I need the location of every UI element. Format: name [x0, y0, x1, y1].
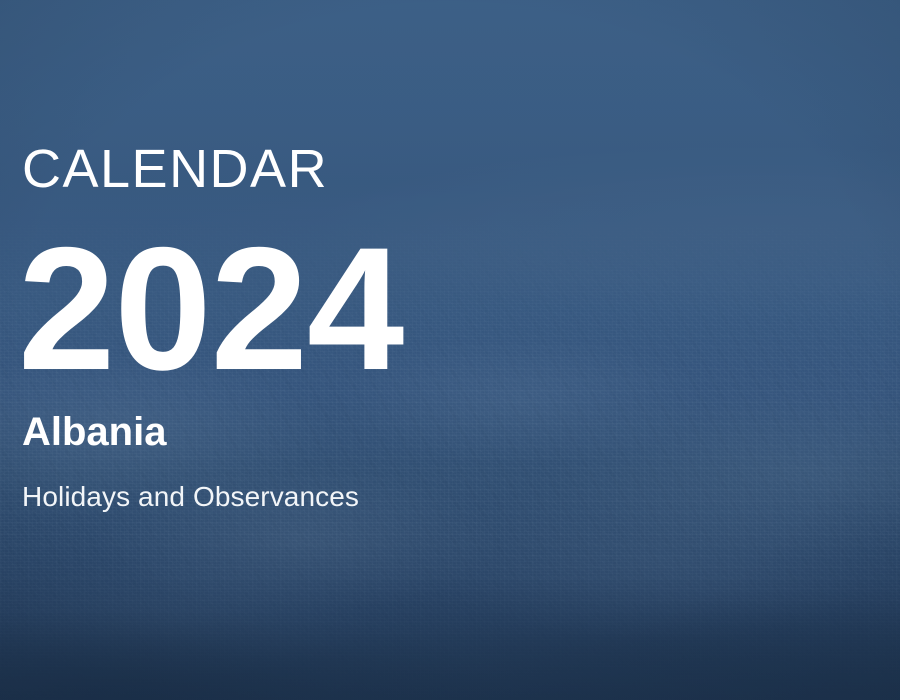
- calendar-cover: CALENDAR 2024 Albania Holidays and Obser…: [0, 0, 900, 700]
- calendar-eyebrow-label: CALENDAR: [22, 142, 328, 196]
- cover-text-block: CALENDAR 2024 Albania Holidays and Obser…: [22, 0, 582, 700]
- calendar-subtitle: Holidays and Observances: [22, 483, 359, 511]
- calendar-country-name: Albania: [22, 412, 166, 452]
- calendar-year: 2024: [18, 222, 403, 397]
